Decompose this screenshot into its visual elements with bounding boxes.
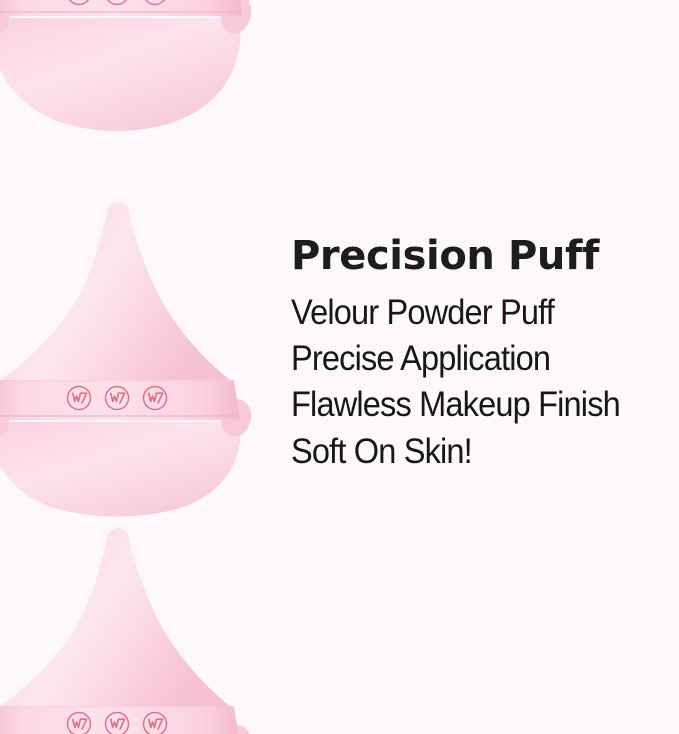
list-item: Flawless Makeup Finish <box>291 382 652 428</box>
puff-cone-body <box>0 202 230 380</box>
puff-ribbon-band <box>0 0 242 16</box>
list-item: Soft On Skin! <box>291 429 652 475</box>
puff-base <box>0 18 241 131</box>
puff-cone-body <box>0 528 230 706</box>
list-item: Precise Application <box>291 336 652 382</box>
puff-base <box>0 422 241 517</box>
product-image-puff-bottom[interactable] <box>0 512 262 734</box>
product-info-panel: Precision Puff Velour Powder Puff Precis… <box>291 236 679 475</box>
list-item: Velour Powder Puff <box>291 290 652 336</box>
product-listing-image: Precision Puff Velour Powder Puff Precis… <box>0 0 679 734</box>
puff-ribbon-band <box>0 380 240 420</box>
page-title: Precision Puff <box>291 236 679 276</box>
product-gallery <box>0 0 290 734</box>
product-image-puff-top[interactable] <box>0 0 262 152</box>
product-image-puff-middle[interactable] <box>0 186 262 516</box>
feature-list: Velour Powder Puff Precise Application F… <box>291 290 679 475</box>
